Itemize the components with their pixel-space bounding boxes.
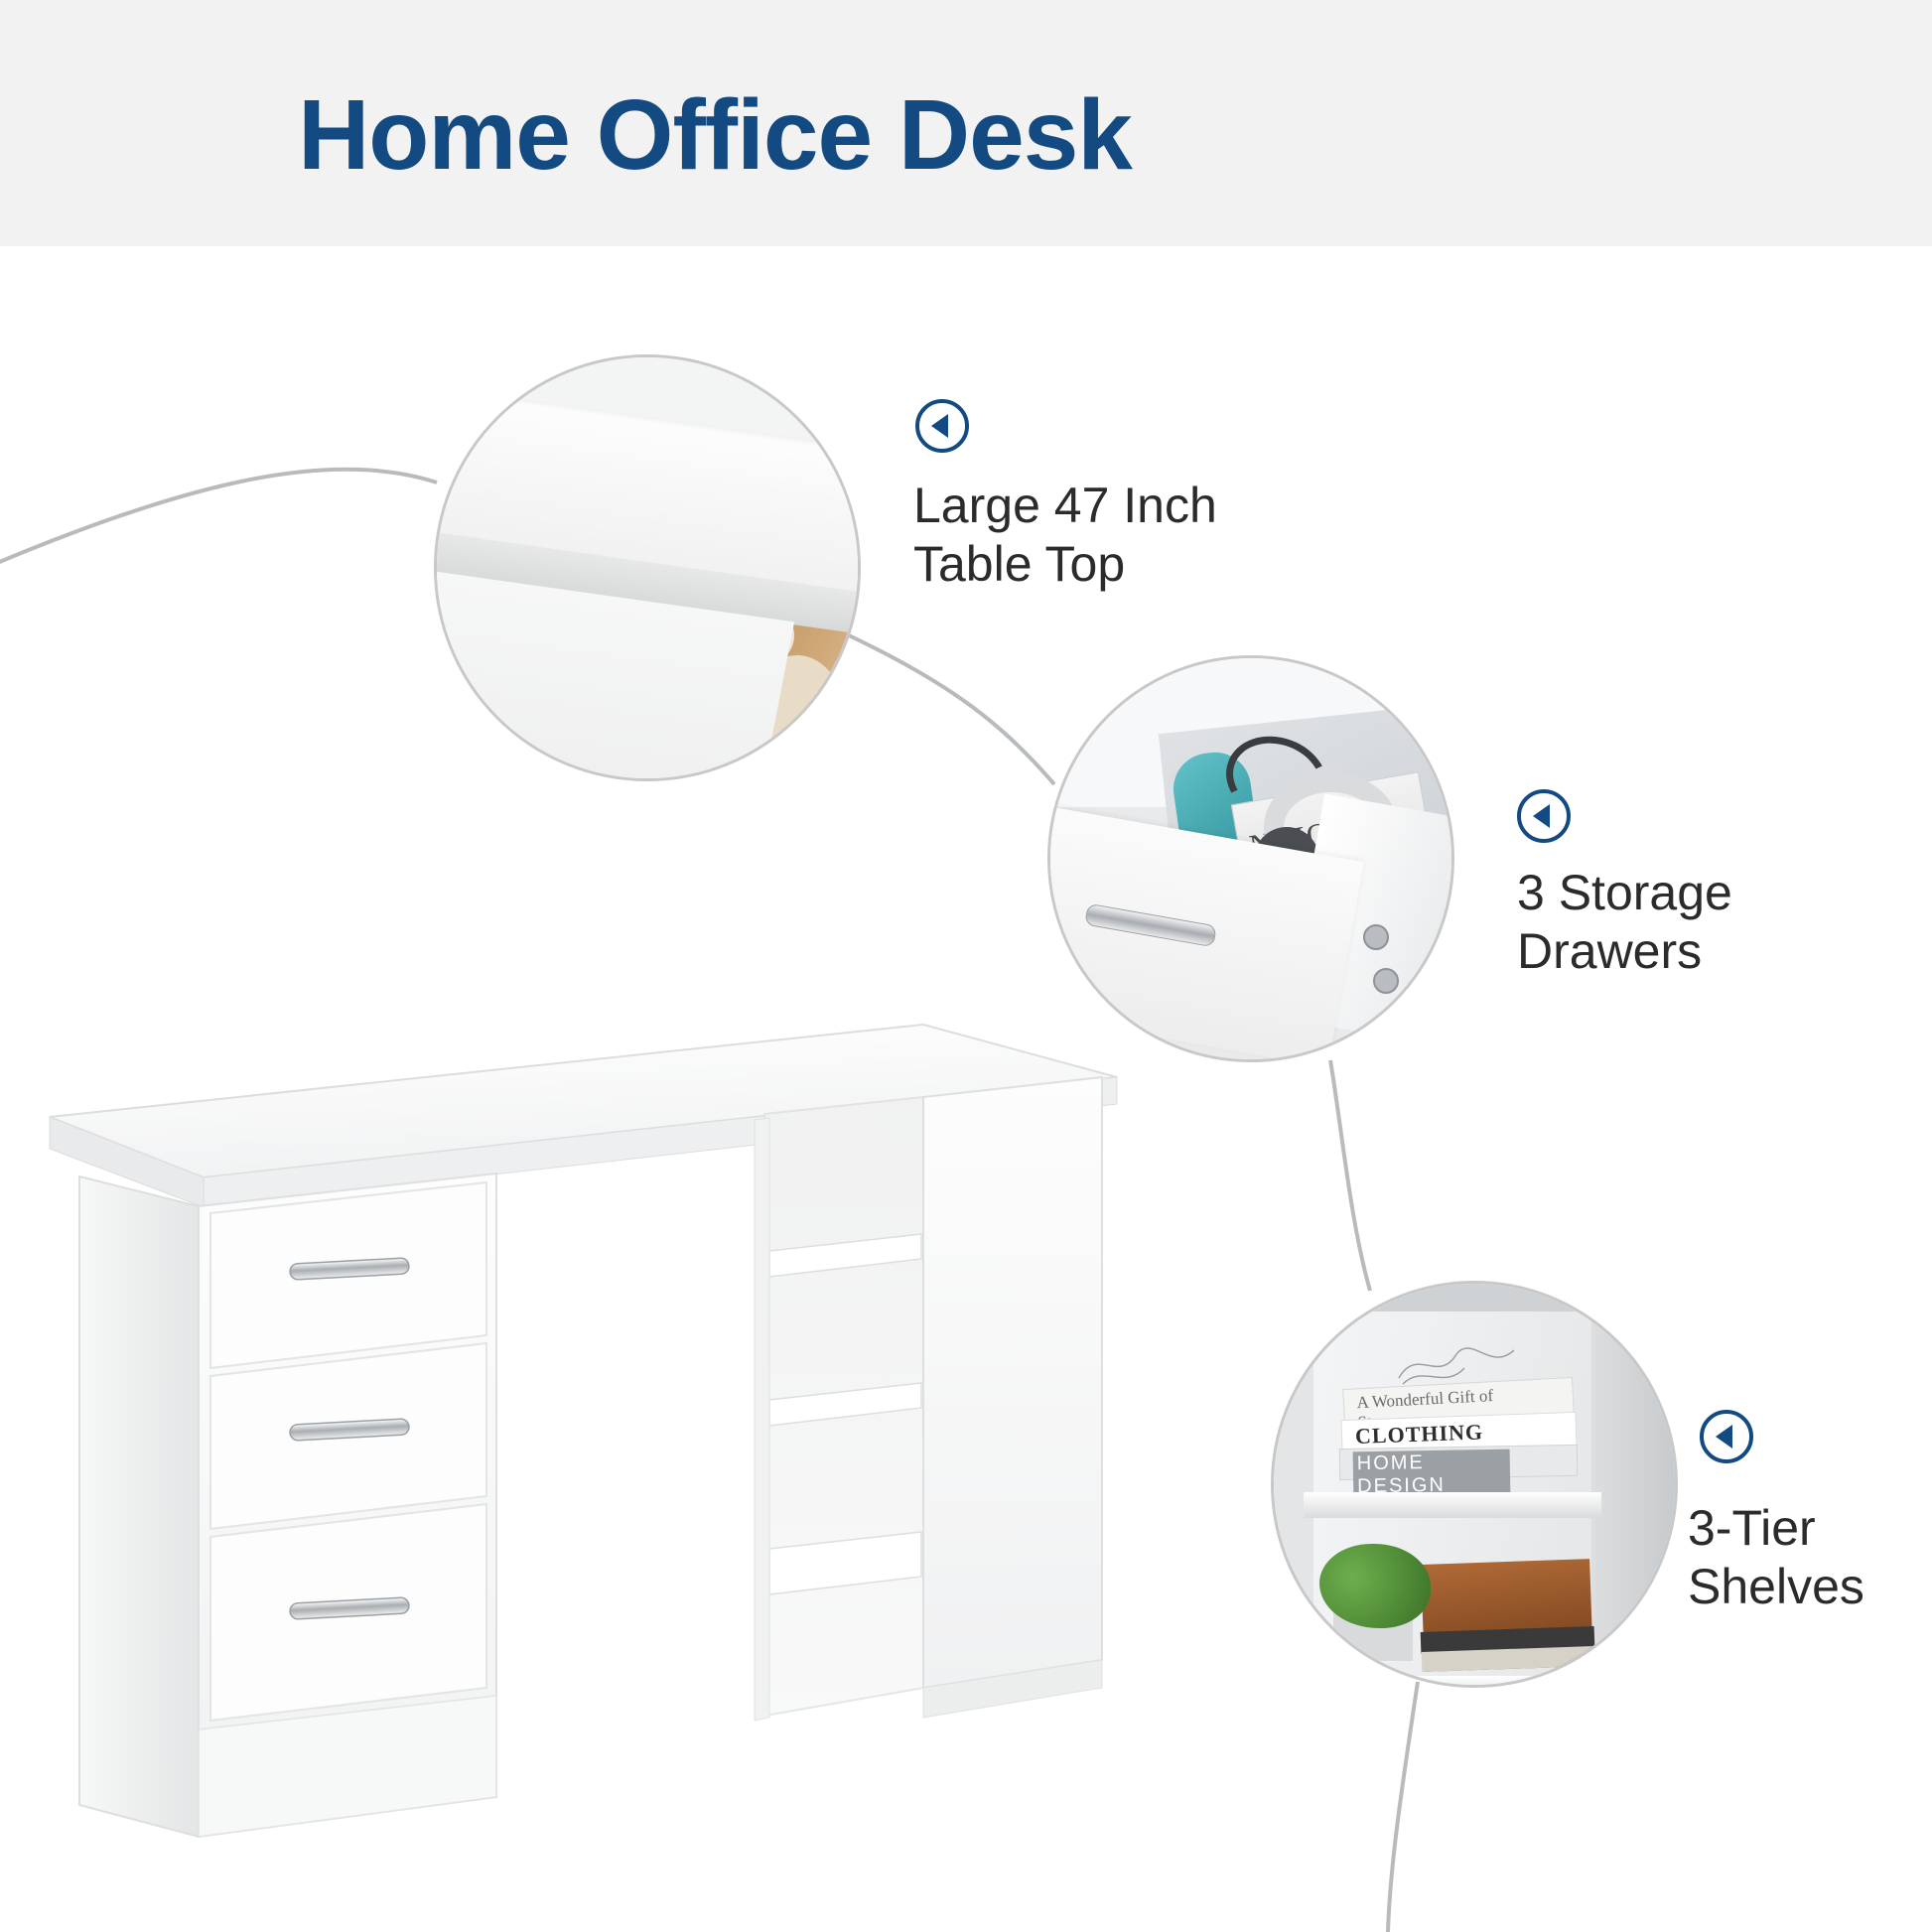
callout-line-1: 3-Tier — [1688, 1499, 1932, 1558]
left-triangle-marker-icon-drawers — [1517, 789, 1571, 843]
shelf-books-closeup: A Wonderful Gift of Story CLOTHING HOME … — [1274, 1284, 1675, 1685]
left-triangle-marker-icon-table-top — [915, 399, 969, 453]
callout-line-2: Shelves — [1688, 1558, 1932, 1616]
closeup-shelf-top-edge — [1333, 1281, 1591, 1311]
closeup-shelf-board-upper — [1304, 1492, 1601, 1518]
detail-circle-shelves: A Wonderful Gift of Story CLOTHING HOME … — [1271, 1281, 1678, 1688]
closeup-shelf-side-panel — [1591, 1284, 1678, 1688]
callout-line-1: 3 Storage — [1517, 864, 1874, 922]
callout-label-drawers: 3 Storage Drawers — [1517, 864, 1874, 981]
callout-line-1: Large 47 Inch — [913, 477, 1330, 535]
left-triangle-marker-icon-shelves — [1700, 1410, 1753, 1463]
table-top-corner-closeup — [437, 357, 858, 778]
closeup-screw-upper — [1363, 924, 1389, 950]
detail-circle-table-top — [434, 354, 861, 781]
callout-line-2: Table Top — [913, 535, 1330, 594]
closeup-screw-lower — [1373, 968, 1399, 994]
detail-circle-drawers: NTIQUE — [1047, 655, 1454, 1062]
callout-line-2: Drawers — [1517, 922, 1874, 981]
callout-label-shelves: 3-Tier Shelves — [1688, 1499, 1932, 1616]
open-drawer-closeup: NTIQUE — [1050, 658, 1451, 1059]
callout-label-table-top: Large 47 Inch Table Top — [913, 477, 1330, 594]
